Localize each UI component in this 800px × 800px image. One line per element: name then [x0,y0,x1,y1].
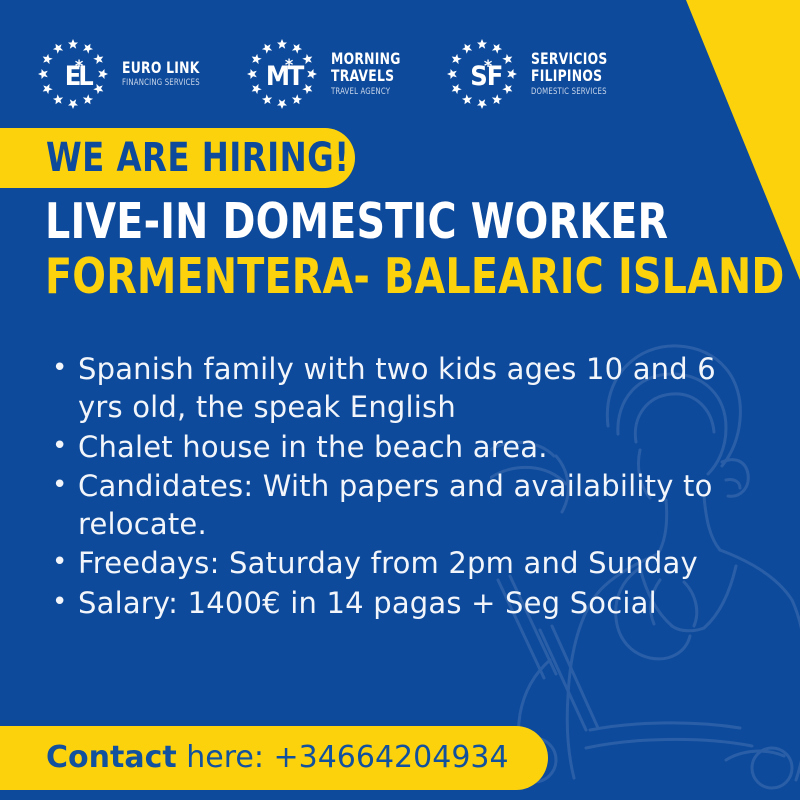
logo-subtitle-euro-link: FINANCING SERVICES [122,79,200,88]
svg-text:*: * [285,55,294,74]
bullet-icon: • [52,544,78,581]
hiring-banner: WE ARE HIRING! [0,128,355,188]
logo-name-euro-link: EURO LINK [122,60,200,77]
list-item-text: Freedays: Saturday from 2pm and Sunday [78,544,742,582]
contact-phone-text[interactable]: here: +34664204934 [177,740,509,775]
logo-subtitle-morning-travels: TRAVEL AGENCY [331,88,401,97]
list-item-text: Candidates: With papers and availability… [78,467,742,544]
list-item: • Freedays: Saturday from 2pm and Sunday [52,544,742,582]
job-location-title: FORMENTERA- BALEARIC ISLAND [45,252,784,303]
contact-line: Contact here: +34664204934 [46,743,509,773]
job-role-title: LIVE-IN DOMESTIC WORKER [45,197,784,248]
svg-text:*: * [75,56,84,75]
contact-label: Contact [46,740,177,775]
job-poster: E L * EURO LINK FINANCING SERVICES [0,0,800,800]
hiring-banner-label: WE ARE HIRING! [46,138,349,178]
list-item: • Chalet house in the beach area. [52,428,742,466]
page-title: LIVE-IN DOMESTIC WORKER FORMENTERA- BALE… [45,197,800,303]
bullet-icon: • [52,584,78,621]
partner-logos: E L * EURO LINK FINANCING SERVICES [33,38,620,110]
logo-subtitle-servicios-filipinos: DOMESTIC SERVICES [531,88,608,97]
eu-stars-circle-icon: M T * [242,38,322,110]
bullet-icon: • [52,428,78,465]
list-item: • Candidates: With papers and availabili… [52,467,742,544]
eu-stars-circle-icon: S F * [442,38,522,110]
logo-name-morning-travels-line2: TRAVELS [331,68,401,85]
list-item: • Spanish family with two kids ages 10 a… [52,350,742,427]
job-details-list: • Spanish family with two kids ages 10 a… [52,350,742,623]
list-item-text: Salary: 1400€ in 14 pagas + Seg Social [78,584,742,622]
logo-morning-travels: M T * MORNING TRAVELS TRAVEL AGENCY [242,38,412,110]
bullet-icon: • [52,350,78,387]
bullet-icon: • [52,467,78,504]
list-item-text: Spanish family with two kids ages 10 and… [78,350,742,427]
svg-text:*: * [484,56,493,75]
logo-servicios-filipinos: S F * SERVICIOS FILIPINOS DOMESTIC SERVI… [442,38,620,110]
logo-name-servicios-filipinos-line2: FILIPINOS [531,68,608,85]
eu-stars-circle-icon: E L * [33,38,113,110]
list-item-text: Chalet house in the beach area. [78,428,742,466]
list-item: • Salary: 1400€ in 14 pagas + Seg Social [52,584,742,622]
contact-banner[interactable]: Contact here: +34664204934 [0,726,548,790]
logo-euro-link: E L * EURO LINK FINANCING SERVICES [33,38,212,110]
